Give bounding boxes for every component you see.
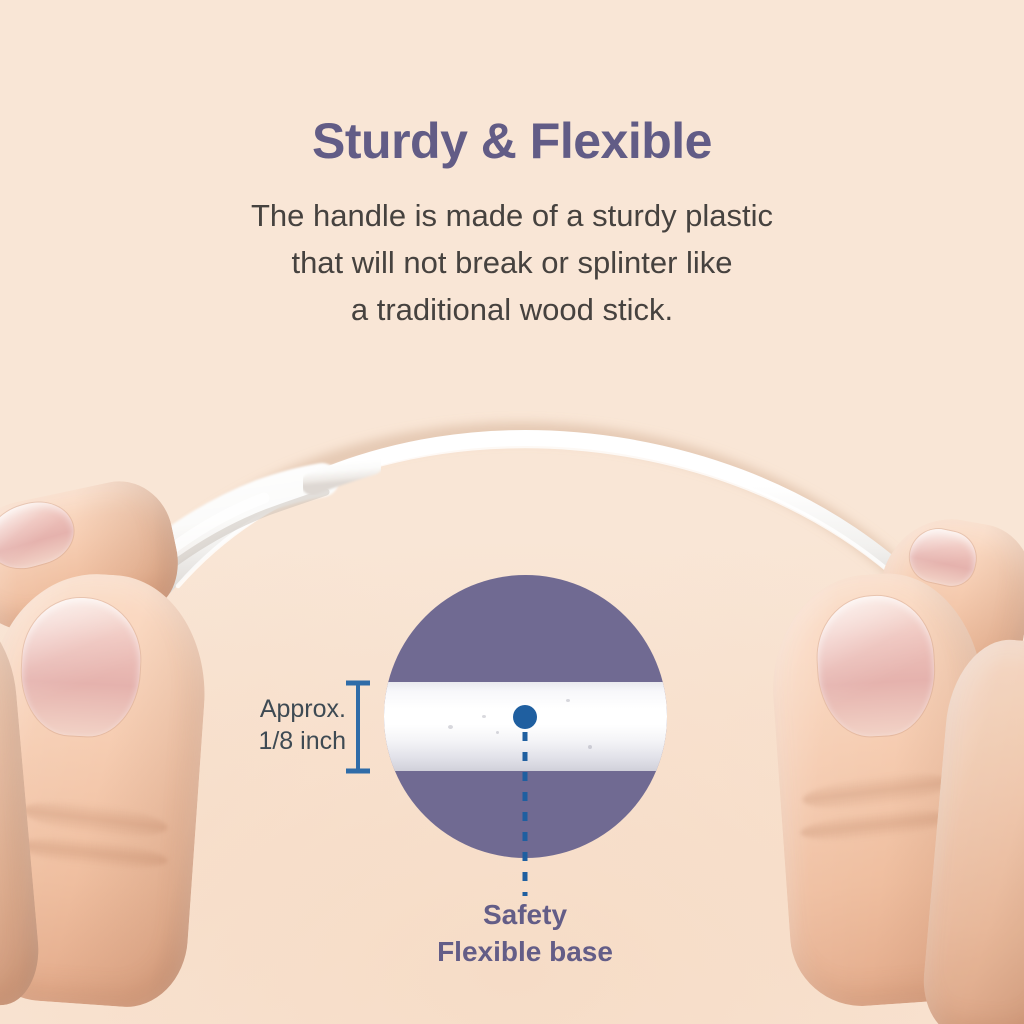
measurement-qualifier: Approx. [150, 694, 346, 726]
callout-caption-line-1: Safety [325, 896, 725, 933]
safety-callout-connector [430, 700, 620, 910]
description-line-1: The handle is made of a sturdy plastic [0, 192, 1024, 239]
measurement-value: 1/8 inch [150, 726, 346, 758]
callout-caption-line-2: Flexible base [325, 933, 725, 970]
callout-caption: Safety Flexible base [325, 896, 725, 970]
page-title: Sturdy & Flexible [0, 116, 1024, 166]
right-hand [760, 520, 1024, 1024]
description-line-3: a traditional wood stick. [0, 286, 1024, 333]
description-text: The handle is made of a sturdy plastic t… [0, 192, 1024, 333]
description-line-2: that will not break or splinter like [0, 239, 1024, 286]
callout-marker-dot [513, 705, 537, 729]
measurement-label: Approx. 1/8 inch [150, 694, 346, 757]
infographic-canvas: Sturdy & Flexible The handle is made of … [0, 0, 1024, 1024]
measurement-bracket [340, 672, 376, 782]
